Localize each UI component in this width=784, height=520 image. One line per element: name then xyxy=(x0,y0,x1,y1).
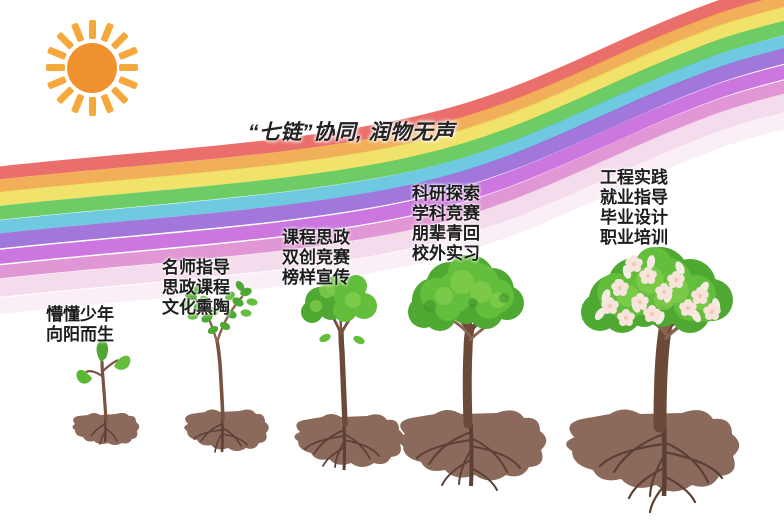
stage-label-3: 课程思政 双创竞赛 榜样宣传 xyxy=(282,228,350,288)
stage-label-2: 名师指导 思政课程 文化熏陶 xyxy=(162,258,230,318)
tree-young xyxy=(294,275,403,470)
stage-label-4-line-3: 朋辈青回 xyxy=(412,224,480,244)
stage-label-5-line-3: 毕业设计 xyxy=(600,208,668,228)
stage-label-1-line-2: 向阳而生 xyxy=(46,325,114,345)
stage-label-5: 工程实践 就业指导 毕业设计 职业培训 xyxy=(600,168,668,248)
stage-label-3-line-2: 双创竞赛 xyxy=(282,248,350,268)
stage-label-1-line-1: 懵懂少年 xyxy=(46,305,114,325)
infographic-canvas: “七链”协同, 润物无声 懵懂少年 向阳而生 名师指导 思政课程 文化熏陶 课程… xyxy=(0,0,784,520)
tree-blossoming xyxy=(566,247,739,512)
stage-label-2-line-1: 名师指导 xyxy=(162,258,230,278)
stage-label-3-line-3: 榜样宣传 xyxy=(282,268,350,288)
tree-mature xyxy=(398,255,546,490)
stage-label-4: 科研探索 学科竞赛 朋辈青回 校外实习 xyxy=(412,184,480,264)
stage-label-5-line-2: 就业指导 xyxy=(600,188,668,208)
stage-label-4-line-1: 科研探索 xyxy=(412,184,480,204)
stage-label-5-line-4: 职业培训 xyxy=(600,228,668,248)
stage-label-2-line-3: 文化熏陶 xyxy=(162,298,230,318)
stage-label-5-line-1: 工程实践 xyxy=(600,168,668,188)
stage-label-3-line-1: 课程思政 xyxy=(282,228,350,248)
stage-label-4-line-2: 学科竞赛 xyxy=(412,204,480,224)
stage-label-4-line-4: 校外实习 xyxy=(412,244,480,264)
tree-seedling xyxy=(73,340,140,445)
main-title: “七链”协同, 润物无声 xyxy=(248,116,455,146)
stage-label-2-line-2: 思政课程 xyxy=(162,278,230,298)
stage-label-1: 懵懂少年 向阳而生 xyxy=(46,305,114,345)
sun-icon xyxy=(46,20,138,116)
